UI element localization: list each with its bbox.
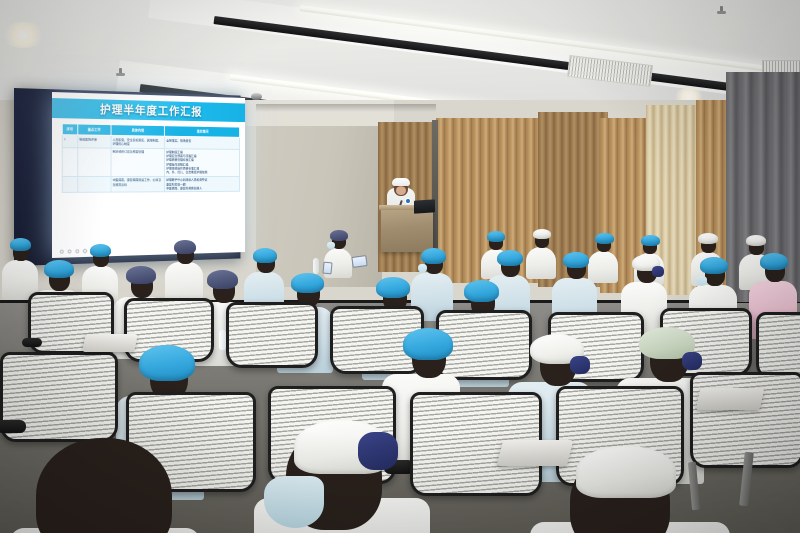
surgical-cap-icon [487, 231, 505, 242]
surgical-cap-icon [139, 345, 195, 381]
hair-bow [682, 352, 702, 370]
cell-details: 制定或修订应急预案管理 [111, 148, 165, 177]
chair-tablet-arm[interactable] [696, 388, 765, 410]
cell-key-work: 等级医院评审 [77, 135, 110, 148]
surgical-cap-icon [595, 233, 614, 244]
cell-details: 中医病案、康复病房建设工作、公共卫生规范达标 [111, 176, 165, 192]
pen-tool-icon[interactable] [82, 248, 87, 254]
chair-tablet-arm[interactable] [82, 334, 138, 352]
cell-no [62, 147, 77, 176]
cell-status: 护理制度汇编 护理应急预案与流程汇编 护理质量管理标准汇编 护理操作流程汇编 护… [165, 148, 240, 176]
hair-bow [570, 356, 590, 374]
next-slide-icon[interactable] [75, 249, 79, 253]
surgical-cap-icon [376, 277, 410, 298]
cell-no: 1 [62, 135, 77, 148]
sprinkler-icon-2 [119, 68, 122, 75]
surgical-cap-icon [760, 253, 788, 270]
table-row: 中医病案、康复病房建设工作、公共卫生规范达标 护理教学中心创建收人员和督导证 康… [62, 176, 239, 193]
surgical-cap-icon [291, 273, 324, 293]
scrub-cap-icon [174, 240, 196, 254]
scrub-cap-icon [207, 270, 238, 289]
scrub-cap-icon [330, 230, 348, 241]
water-bottle [219, 330, 226, 350]
surgical-cap-icon [90, 244, 111, 257]
prev-slide-icon[interactable] [60, 250, 64, 254]
slide-table: 序号 重点工作 具体内容 落实情况 1 等级医院评审 人员职责、安全目标落实、其… [62, 123, 240, 193]
surgical-cap-icon [403, 328, 453, 360]
cell-no [62, 176, 77, 193]
downlight-left [0, 22, 46, 48]
surgical-cap-icon [253, 248, 277, 263]
nurse-cap-icon [746, 235, 766, 246]
cell-key-work [77, 176, 110, 193]
cell-details: 人员职责、安全目标落实、其他制度、护理核心制度 [111, 135, 165, 148]
cell-status: 全院落实、现场督查 [165, 136, 240, 149]
pointer-icon[interactable] [68, 249, 72, 253]
th-key-work: 重点工作 [77, 124, 110, 135]
podium [381, 208, 433, 252]
cell-key-work [77, 147, 110, 176]
surgical-mask [264, 476, 324, 528]
nurse-cap-icon [392, 178, 410, 186]
surgical-cap-icon [44, 260, 74, 278]
nurse-cap-icon [698, 233, 718, 244]
hair-bow [652, 266, 664, 277]
surgical-cap-icon [10, 238, 31, 251]
presentation-slide[interactable]: 护理半年度工作汇报 序号 重点工作 具体内容 落实情况 1 等级医院评审 人员职… [52, 92, 245, 258]
surgical-cap-icon [641, 235, 660, 246]
speaker-laptop [414, 199, 435, 213]
conference-photo: 护理半年度工作汇报 序号 重点工作 具体内容 落实情况 1 等级医院评审 人员职… [0, 0, 800, 533]
th-no: 序号 [62, 124, 77, 135]
water-bottle [313, 258, 319, 274]
hair-bow [358, 432, 398, 470]
wall-shadow-band [256, 104, 436, 112]
speaker-face [396, 186, 406, 195]
chair-tablet-arm[interactable] [497, 440, 573, 466]
surgical-cap-icon [563, 252, 589, 268]
slide-title: 护理半年度工作汇报 [52, 98, 245, 122]
attendee-tablet [351, 255, 367, 268]
slideshow-controls[interactable] [60, 249, 87, 254]
surgical-cap-icon [464, 280, 499, 302]
dome-camera-icon [251, 93, 262, 100]
nurse-cap-icon [533, 229, 551, 239]
uniform-badge [405, 198, 411, 204]
surgical-cap-icon [497, 250, 523, 266]
th-details: 具体内容 [111, 125, 165, 137]
nurse-cap-icon [576, 446, 676, 498]
cell-status: 护理教学中心创建收人员和督导证 康复科筹建一期 中医病房、康复科病房包病人 [165, 176, 240, 192]
surgical-cap-icon [700, 257, 728, 274]
scrub-cap-icon [126, 266, 156, 284]
surgical-cap-icon [421, 248, 446, 264]
sprinkler-icon-1 [720, 6, 723, 13]
attendee-phone [322, 262, 332, 275]
table-row: 制定或修订应急预案管理 护理制度汇编 护理应急预案与流程汇编 护理质量管理标准汇… [62, 147, 239, 176]
